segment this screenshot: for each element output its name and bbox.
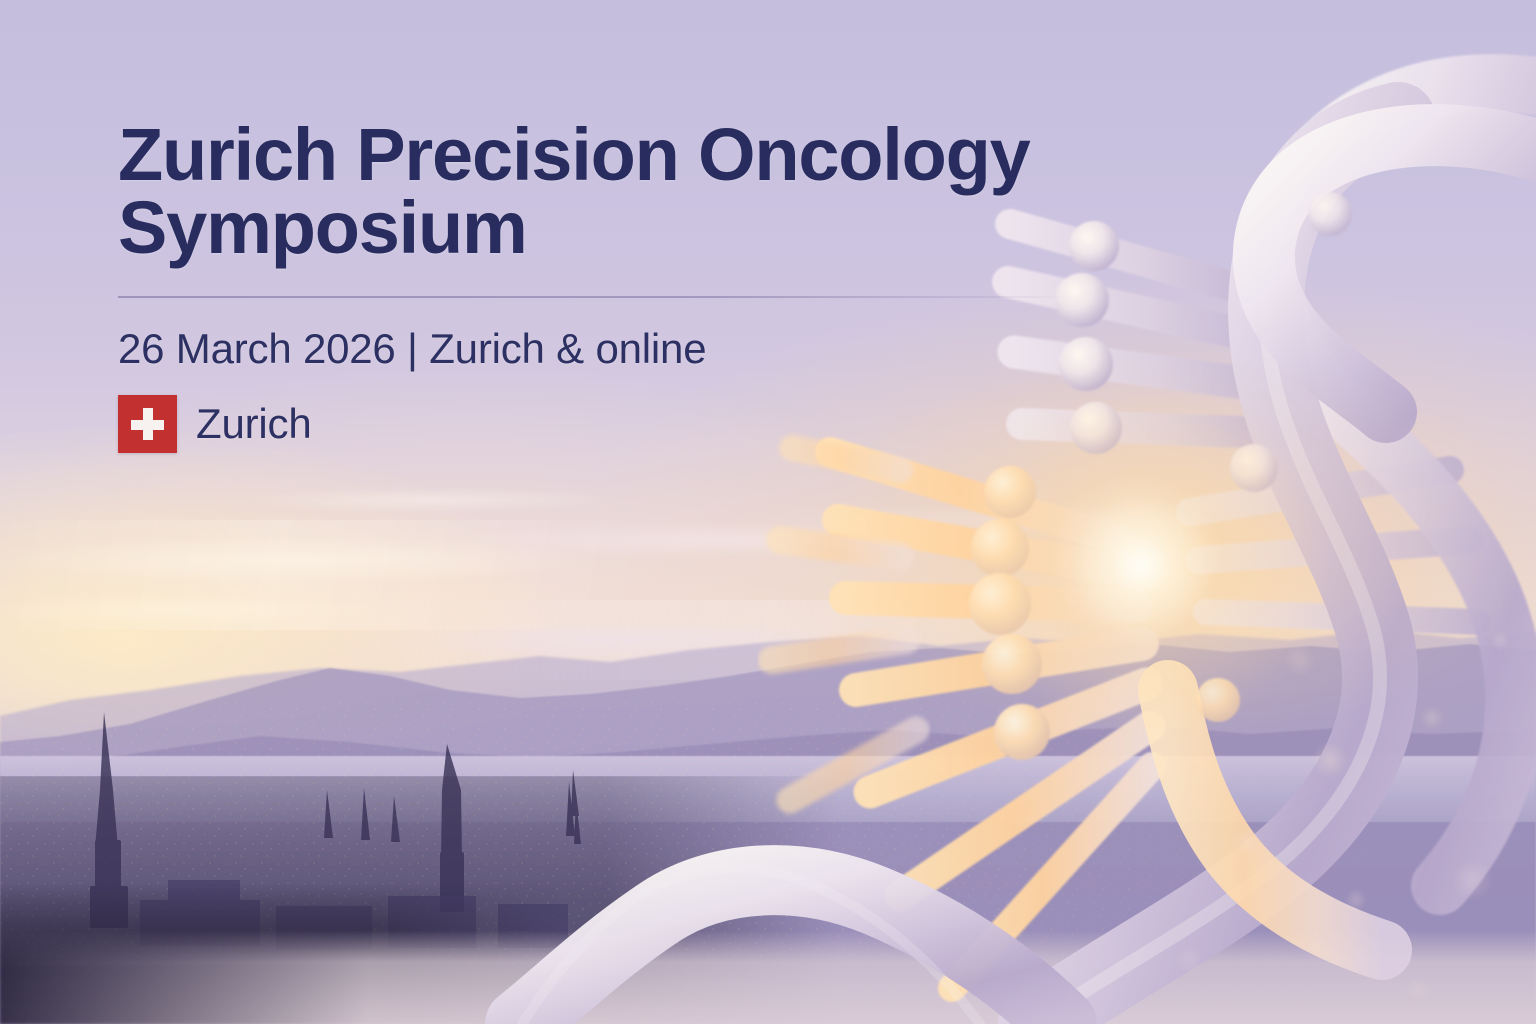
lake-reflection-glow bbox=[0, 752, 1536, 808]
distant-hill-lights bbox=[0, 690, 1536, 780]
swiss-flag-icon bbox=[118, 395, 177, 453]
event-date-and-location: 26 March 2026 | Zurich & online bbox=[118, 325, 1078, 373]
flag-cross-vertical bbox=[143, 408, 153, 440]
foreground-treeline bbox=[0, 884, 560, 1024]
terrace-plaza-surface bbox=[0, 930, 1536, 1024]
lake-zurich-water bbox=[0, 756, 1536, 822]
title-divider bbox=[118, 296, 1073, 298]
city-building-mass bbox=[0, 776, 840, 1024]
banner-text-block: Zurich Precision Oncology Symposium 26 M… bbox=[118, 118, 1078, 453]
location-label: Zurich bbox=[196, 400, 312, 448]
city-window-lights bbox=[0, 700, 1536, 1024]
page-title: Zurich Precision Oncology Symposium bbox=[118, 118, 1078, 265]
event-banner: Zurich Precision Oncology Symposium 26 M… bbox=[0, 0, 1536, 1024]
location-row: Zurich bbox=[118, 395, 1078, 453]
